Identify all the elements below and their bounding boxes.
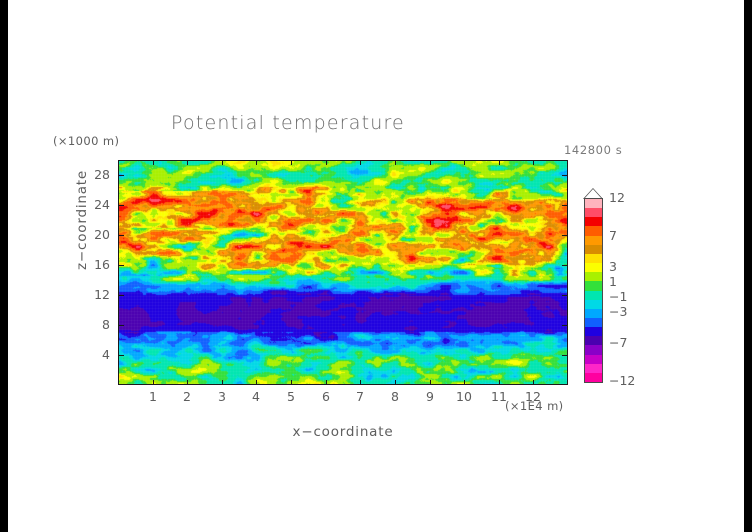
x-axis-tick (222, 380, 223, 385)
x-axis-tick (533, 160, 534, 165)
x-axis-tick-label: 12 (518, 389, 548, 404)
y-axis-tick (118, 205, 124, 206)
y-axis-tick (118, 235, 124, 236)
x-axis-tick-label: 11 (484, 389, 514, 404)
y-axis-tick (562, 175, 568, 176)
colorbar-tick-label: −3 (609, 304, 627, 319)
x-axis-tick (222, 160, 223, 165)
x-axis-tick (395, 160, 396, 165)
contour-plot-area (118, 160, 568, 385)
colorbar-tick-label: −7 (609, 335, 627, 350)
x-axis-tick (256, 380, 257, 385)
x-axis-tick (395, 380, 396, 385)
y-axis-tick (562, 205, 568, 206)
y-axis-tick-label: 16 (86, 257, 110, 272)
y-axis-tick (562, 295, 568, 296)
colorbar-tick-label: −1 (609, 289, 627, 304)
colorbar (584, 198, 603, 383)
page-title: Potential temperature (8, 112, 568, 134)
x-axis-tick (326, 380, 327, 385)
y-axis-tick (118, 325, 124, 326)
colorbar-tick-label: 1 (609, 274, 617, 289)
y-axis-tick (118, 265, 124, 266)
x-axis-tick-label: 3 (207, 389, 237, 404)
y-axis-title: z−coordinate (74, 140, 90, 300)
timestamp-label: 142800 s (564, 143, 622, 157)
x-axis-tick-label: 4 (241, 389, 271, 404)
x-axis-tick (464, 380, 465, 385)
y-axis-tick-label: 4 (86, 347, 110, 362)
y-axis-tick (118, 355, 124, 356)
x-axis-tick (187, 380, 188, 385)
figure-page: Potential temperature 142800 s (×1000 m)… (0, 0, 752, 532)
colorbar-tick-label: −12 (609, 373, 635, 388)
x-axis-tick (430, 160, 431, 165)
y-axis-tick-label: 28 (86, 167, 110, 182)
x-axis-tick (291, 380, 292, 385)
x-axis-tick (153, 380, 154, 385)
colorbar-band (585, 373, 602, 383)
x-axis-tick (360, 380, 361, 385)
x-axis-tick-label: 2 (172, 389, 202, 404)
x-axis-tick-label: 8 (380, 389, 410, 404)
temperature-field (119, 161, 567, 384)
colorbar-tick-label: 12 (609, 190, 625, 205)
x-axis-tick (499, 160, 500, 165)
y-axis-tick (118, 295, 124, 296)
x-axis-tick (256, 160, 257, 165)
x-axis-tick-label: 6 (311, 389, 341, 404)
y-axis-tick (562, 355, 568, 356)
x-axis-title: x−coordinate (118, 424, 568, 440)
y-axis-tick (562, 235, 568, 236)
x-axis-tick (153, 160, 154, 165)
x-axis-tick (430, 380, 431, 385)
y-axis-tick-label: 20 (86, 227, 110, 242)
y-axis-tick (562, 325, 568, 326)
x-axis-tick (499, 380, 500, 385)
x-axis-tick (533, 380, 534, 385)
x-axis-tick (360, 160, 361, 165)
y-axis-tick-label: 8 (86, 317, 110, 332)
x-axis-tick (187, 160, 188, 165)
y-axis-tick-label: 12 (86, 287, 110, 302)
x-axis-tick-label: 7 (345, 389, 375, 404)
x-axis-tick-label: 10 (449, 389, 479, 404)
y-axis-tick-label: 24 (86, 197, 110, 212)
colorbar-tick-label: 3 (609, 259, 617, 274)
colorbar-tick-label: 7 (609, 228, 617, 243)
x-axis-tick (326, 160, 327, 165)
figure-canvas: Potential temperature 142800 s (×1000 m)… (8, 0, 744, 532)
y-axis-tick (562, 265, 568, 266)
x-axis-tick (291, 160, 292, 165)
y-axis-tick (118, 175, 124, 176)
x-axis-tick-label: 5 (276, 389, 306, 404)
x-axis-tick-label: 1 (138, 389, 168, 404)
x-axis-tick (464, 160, 465, 165)
x-axis-tick-label: 9 (415, 389, 445, 404)
